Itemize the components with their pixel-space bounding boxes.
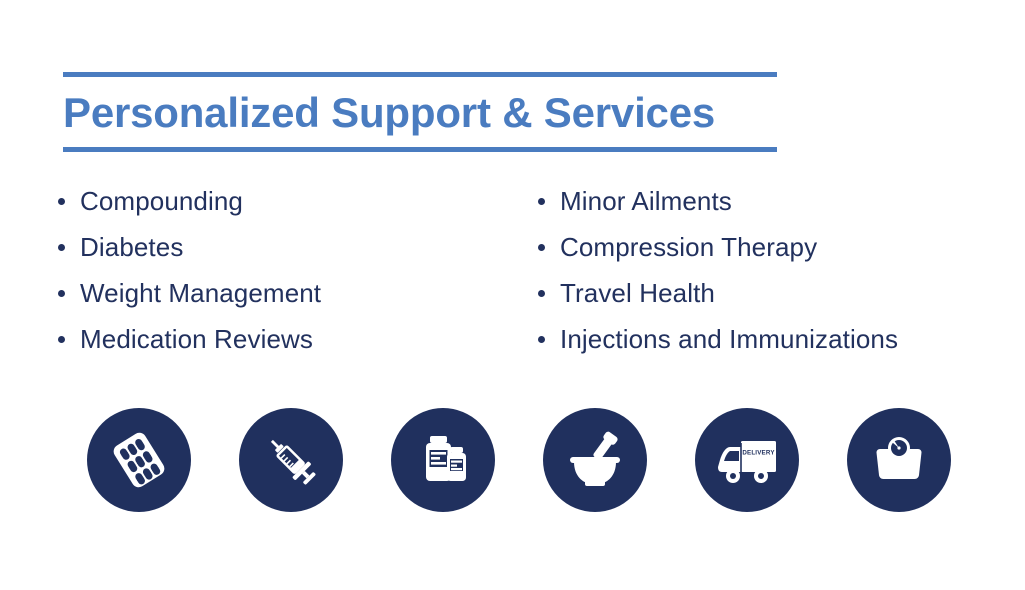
service-label: Compression Therapy (560, 232, 817, 262)
icon-badge-delivery-truck: DELIVERY (695, 408, 799, 512)
list-item: Minor Ailments (532, 178, 560, 224)
pill-blister-pack-icon (108, 429, 170, 491)
delivery-truck-label: DELIVERY (742, 450, 775, 457)
service-icon-row: DELIVERY (87, 408, 967, 512)
bullet-dot-icon (538, 244, 545, 251)
mortar-and-pestle-icon (563, 428, 627, 492)
icon-badge-weight-scale (847, 408, 951, 512)
list-item: Medication Reviews (52, 316, 500, 362)
icon-badge-compounding-pills (87, 408, 191, 512)
list-item: Weight Management (52, 270, 500, 316)
bullet-dot-icon (58, 198, 65, 205)
delivery-truck-icon: DELIVERY (714, 427, 780, 493)
service-label: Compounding (80, 186, 243, 216)
service-label: Weight Management (80, 278, 321, 308)
medicine-bottles-icon (412, 429, 474, 491)
bullet-dot-icon (58, 290, 65, 297)
service-label: Minor Ailments (560, 186, 732, 216)
services-column-left: Compounding Diabetes Weight Management M… (0, 178, 500, 362)
icon-badge-medication-bottles (391, 408, 495, 512)
bullet-dot-icon (538, 336, 545, 343)
bullet-dot-icon (58, 244, 65, 251)
title-rule-top (63, 72, 777, 77)
icon-badge-compounding-mortar (543, 408, 647, 512)
page-header: Personalized Support & Services (63, 72, 777, 152)
icon-badge-injections-syringe (239, 408, 343, 512)
services-list-left: Compounding Diabetes Weight Management M… (52, 178, 500, 362)
syringe-icon (260, 429, 322, 491)
bullet-dot-icon (58, 336, 65, 343)
list-item: Injections and Immunizations (532, 316, 560, 362)
service-label: Travel Health (560, 278, 715, 308)
list-item: Compression Therapy (532, 224, 560, 270)
title-rule-bottom (63, 147, 777, 152)
list-item: Travel Health (532, 270, 560, 316)
page-title: Personalized Support & Services (63, 83, 777, 143)
service-label: Diabetes (80, 232, 183, 262)
list-item: Compounding (52, 178, 500, 224)
bullet-dot-icon (538, 290, 545, 297)
service-label: Medication Reviews (80, 324, 313, 354)
services-lists: Compounding Diabetes Weight Management M… (0, 178, 1025, 362)
bullet-dot-icon (538, 198, 545, 205)
list-item: Diabetes (52, 224, 500, 270)
service-label: Injections and Immunizations (560, 324, 898, 354)
weight-scale-icon (868, 429, 930, 491)
